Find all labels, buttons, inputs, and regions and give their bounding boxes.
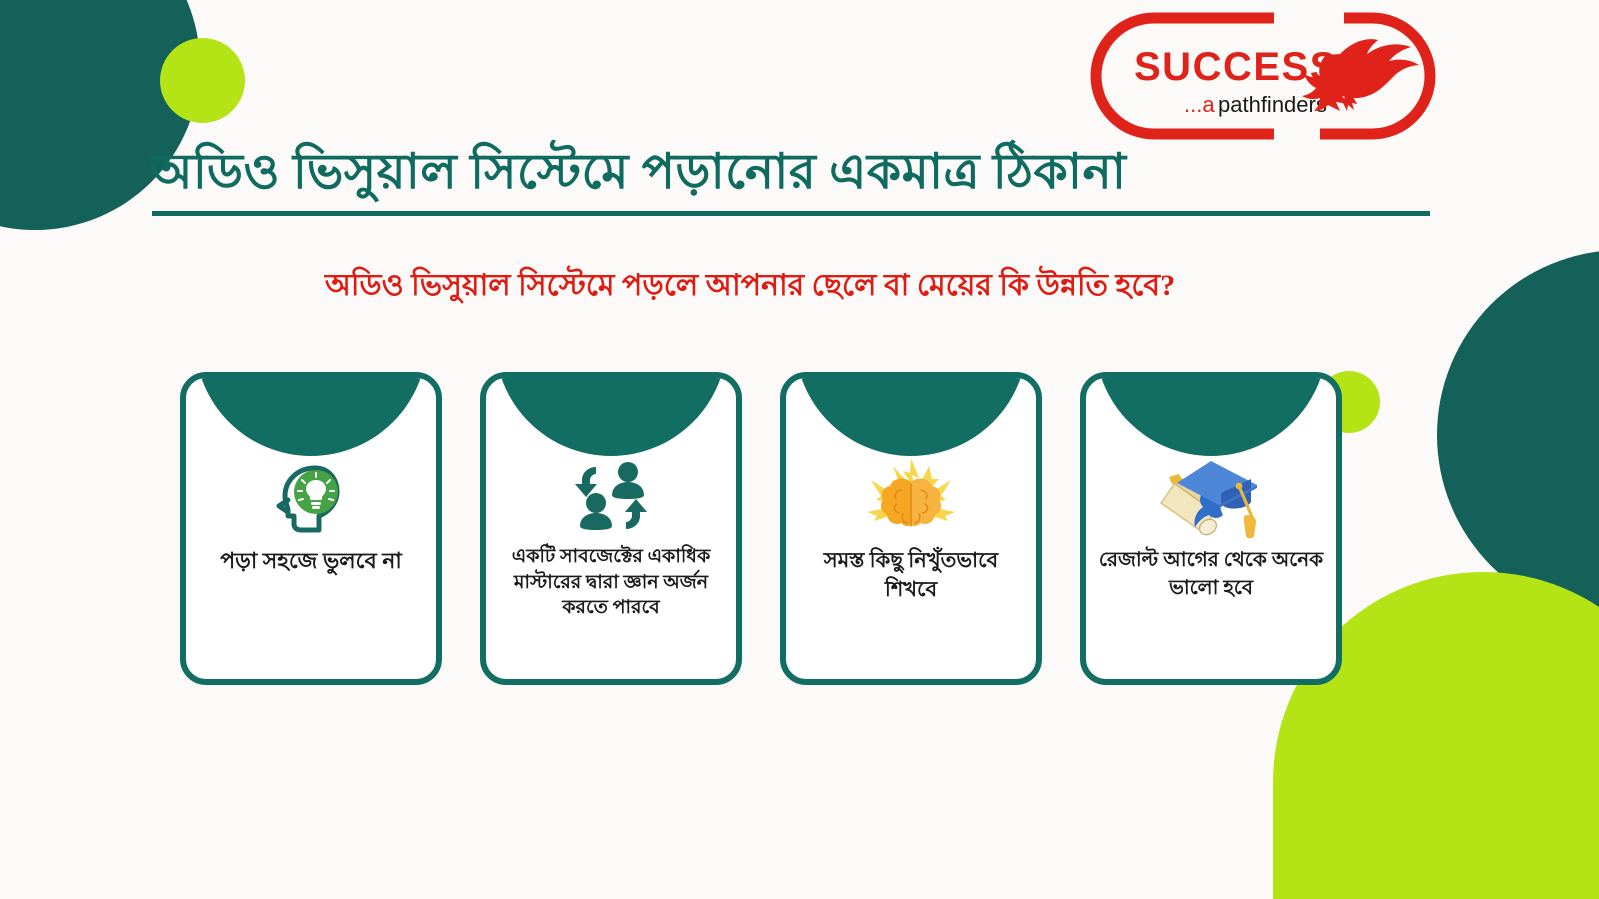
card-number-arc: [1095, 372, 1327, 456]
logo-tagline-prefix: ...a: [1184, 92, 1215, 117]
card-number-arc: [495, 372, 727, 456]
logo-wordmark: SUCCESS: [1134, 45, 1338, 89]
title-underline: [152, 211, 1430, 216]
card-number-arc: [195, 372, 427, 456]
success-pathfinders-logo: SUCCESS ...a pathfinders: [1078, 6, 1448, 146]
brain-lightning-icon: [786, 456, 1036, 538]
card-text: একটি সাবজেক্টের একাধিক মাস্টারের দ্বারা …: [496, 544, 726, 621]
teal-circle-right-decoration: [1437, 250, 1599, 620]
benefit-card-1[interactable]: 01: [180, 372, 442, 685]
card-text: সমস্ত কিছু নিখুঁতভাবে শিখবে: [796, 546, 1026, 605]
card-text: পড়া সহজে ভুলবে না: [196, 546, 426, 577]
card-text: রেজাল্ট আগের থেকে অনেক ভালো হবে: [1096, 546, 1326, 602]
benefit-card-2[interactable]: 02 একটি সাবজেক্টের একাধিক মাস্টারের দ্বা…: [480, 372, 742, 685]
page-subtitle: অডিও ভিসুয়াল সিস্টেমে পড়লে আপনার ছেলে …: [0, 268, 1500, 304]
benefit-card-3[interactable]: 03: [780, 372, 1042, 685]
benefit-card-4[interactable]: 04: [1080, 372, 1342, 685]
head-lightbulb-icon: [186, 456, 436, 538]
benefit-cards-row: 01: [180, 372, 1350, 687]
poster-canvas: SUCCESS ...a pathfinders অডিও ভিসুয়াল স…: [0, 0, 1599, 899]
lime-circle-top-left-decoration: [160, 38, 245, 123]
card-number-arc: [795, 372, 1027, 456]
page-title: অডিও ভিসুয়াল সিস্টেমে পড়ানোর একমাত্র ঠ…: [150, 145, 1440, 200]
people-exchange-icon: [486, 456, 736, 538]
graduation-cap-diploma-icon: [1086, 456, 1336, 538]
